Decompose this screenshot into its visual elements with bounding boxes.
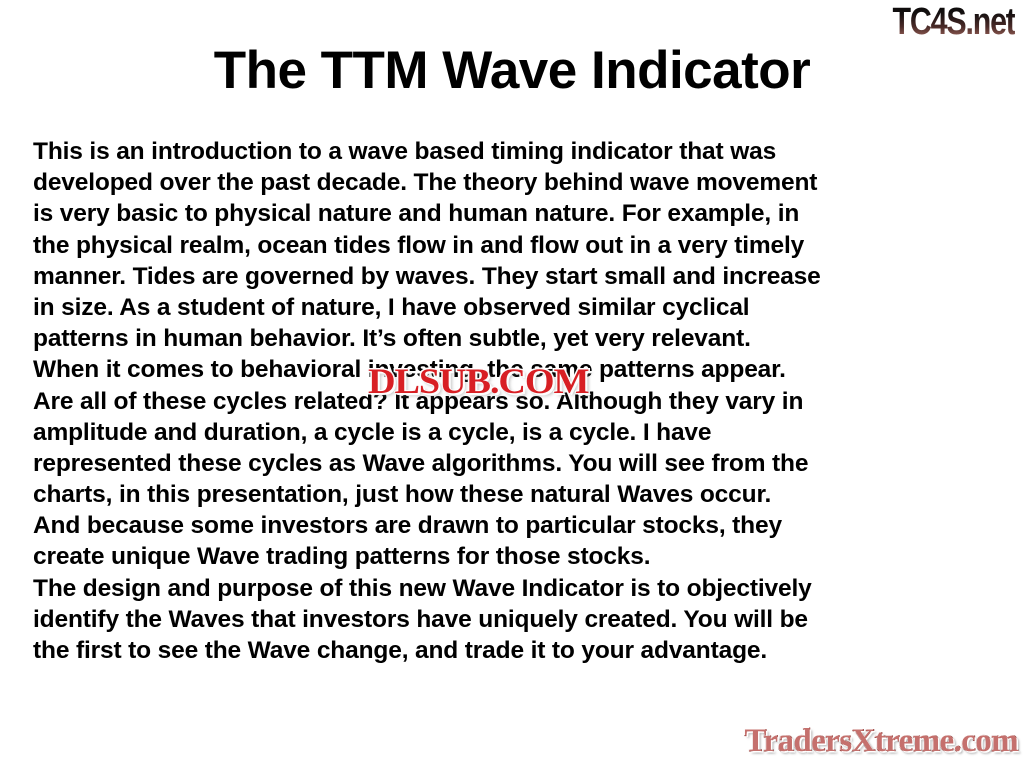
body-line: represented these cycles as Wave algorit… [33, 448, 1008, 479]
body-line: the physical realm, ocean tides flow in … [33, 230, 1008, 261]
body-text-block: This is an introduction to a wave based … [33, 136, 1008, 666]
body-line: in size. As a student of nature, I have … [33, 292, 1008, 323]
body-line: manner. Tides are governed by waves. The… [33, 261, 1008, 292]
body-line: charts, in this presentation, just how t… [33, 479, 1008, 510]
dlsub-watermark: DLSUB.COM [368, 362, 589, 400]
body-line: The design and purpose of this new Wave … [33, 573, 1008, 604]
body-line: amplitude and duration, a cycle is a cyc… [33, 417, 1008, 448]
body-line: the first to see the Wave change, and tr… [33, 635, 1008, 666]
page-title: The TTM Wave Indicator [0, 40, 1024, 102]
body-line: identify the Waves that investors have u… [33, 604, 1008, 635]
body-line: create unique Wave trading patterns for … [33, 541, 1008, 572]
body-line: And because some investors are drawn to … [33, 510, 1008, 541]
body-line: is very basic to physical nature and hum… [33, 198, 1008, 229]
slide-canvas: TC4S.net The TTM Wave Indicator This is … [0, 0, 1024, 768]
body-line: This is an introduction to a wave based … [33, 136, 1008, 167]
tc4s-brand-logo: TC4S.net [893, 2, 1015, 42]
tradersxtreme-brand-logo: TradersXtreme.com [744, 723, 1018, 759]
body-line: developed over the past decade. The theo… [33, 167, 1008, 198]
body-line: patterns in human behavior. It’s often s… [33, 323, 1008, 354]
